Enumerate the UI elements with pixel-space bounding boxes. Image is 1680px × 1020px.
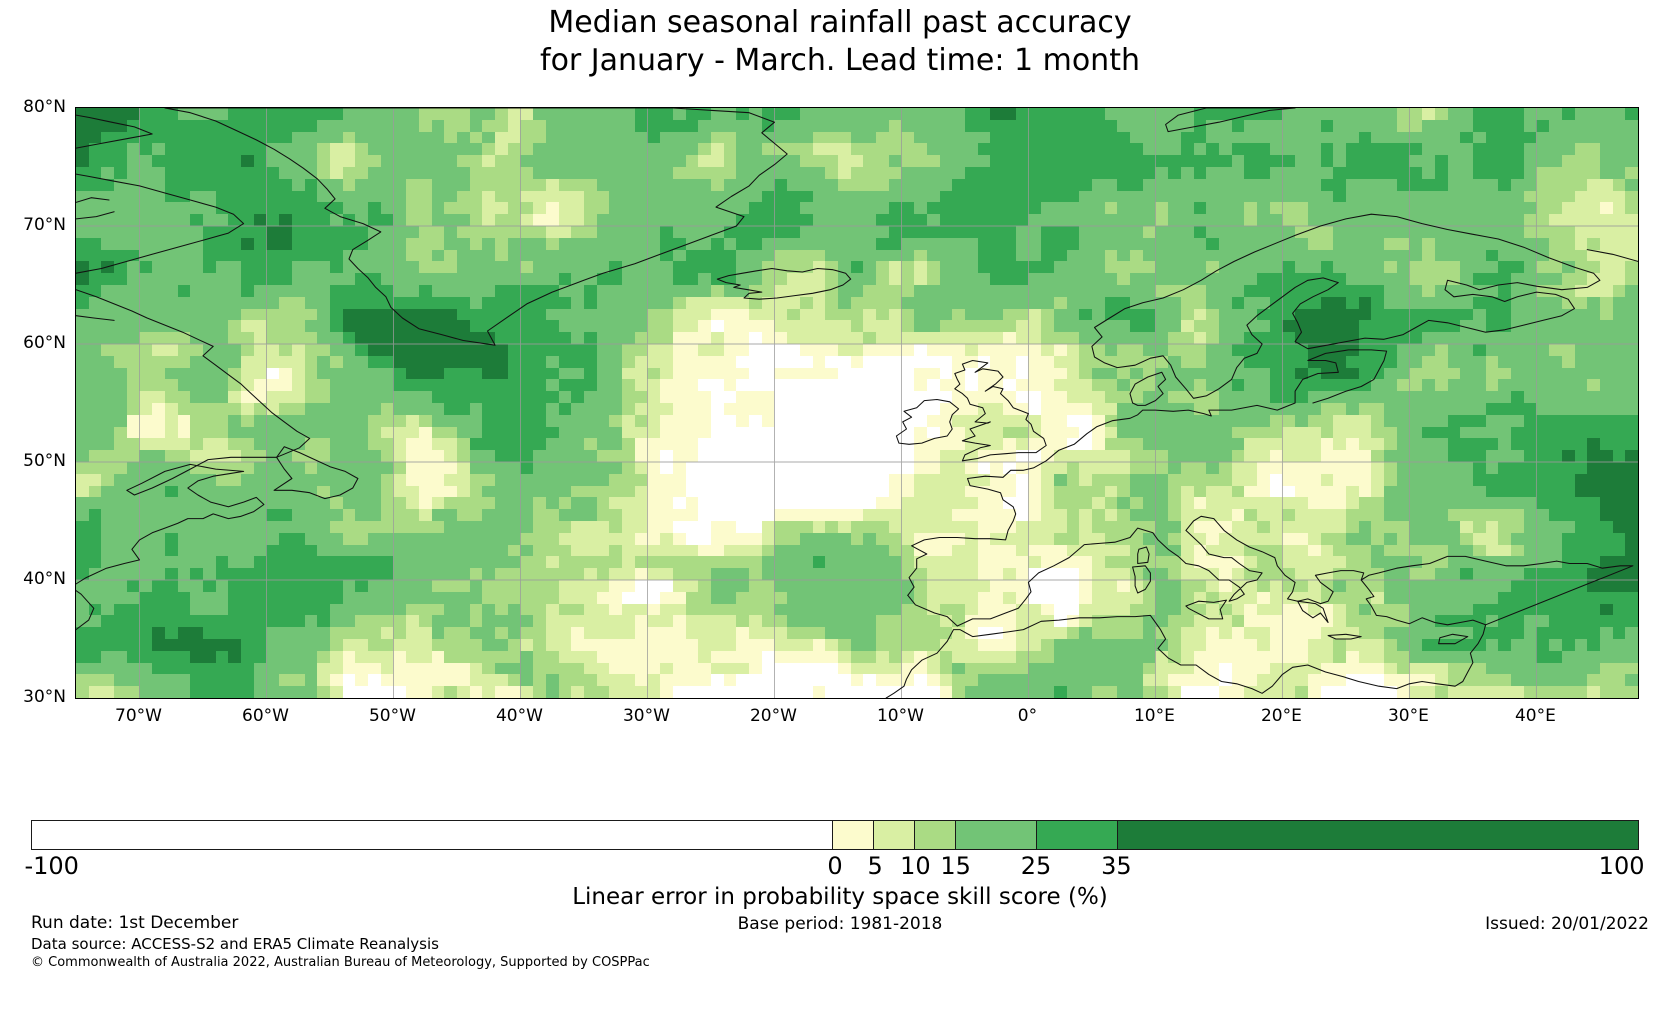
colorbar-tick-25: 25 — [1021, 852, 1052, 880]
figure-title: Median seasonal rainfall past accuracy f… — [0, 4, 1680, 80]
colorbar-tick-35: 35 — [1101, 852, 1132, 880]
lat-tick-30°N: 30°N — [23, 687, 66, 707]
base-period: Base period: 1981-2018 — [0, 914, 1680, 934]
lon-tick-40°W: 40°W — [496, 706, 543, 726]
issued-date: Issued: 20/01/2022 — [1485, 914, 1649, 934]
colorbar-band-4 — [955, 821, 1036, 849]
lat-tick-60°N: 60°N — [23, 333, 66, 353]
lon-tick-0°: 0° — [1018, 706, 1037, 726]
colorbar-band-2 — [873, 821, 914, 849]
title-line-2: for January - March. Lead time: 1 month — [0, 42, 1680, 80]
latitude-axis: 80°N70°N60°N50°N40°N30°N — [0, 107, 66, 697]
lon-tick-30°W: 30°W — [623, 706, 670, 726]
lon-tick-20°W: 20°W — [750, 706, 797, 726]
lon-tick-40°E: 40°E — [1515, 706, 1556, 726]
lat-tick-70°N: 70°N — [23, 215, 66, 235]
copyright-notice: © Commonwealth of Australia 2022, Austra… — [31, 954, 851, 972]
lat-tick-80°N: 80°N — [23, 97, 66, 117]
colorbar-tick-10: 10 — [900, 852, 931, 880]
title-line-1: Median seasonal rainfall past accuracy — [0, 4, 1680, 42]
lat-tick-40°N: 40°N — [23, 569, 66, 589]
colorbar[interactable] — [31, 820, 1639, 850]
lon-tick-10°E: 10°E — [1134, 706, 1175, 726]
lon-tick-60°W: 60°W — [242, 706, 289, 726]
colorbar-tick-15: 15 — [940, 852, 971, 880]
lon-tick-10°W: 10°W — [877, 706, 924, 726]
coastlines — [76, 108, 1638, 698]
colorbar-tick-5: 5 — [868, 852, 883, 880]
colorbar-tick-100: 100 — [1599, 852, 1645, 880]
data-source: Data source: ACCESS-S2 and ERA5 Climate … — [31, 934, 851, 954]
colorbar-band-3 — [914, 821, 955, 849]
lon-tick-50°W: 50°W — [369, 706, 416, 726]
colorbar-band-1 — [832, 821, 873, 849]
colorbar-tick--100: -100 — [24, 852, 78, 880]
lat-tick-50°N: 50°N — [23, 451, 66, 471]
lon-tick-30°E: 30°E — [1388, 706, 1429, 726]
map-panel[interactable] — [75, 107, 1639, 699]
colorbar-band-5 — [1036, 821, 1117, 849]
colorbar-band-0 — [32, 821, 832, 849]
colorbar-band-6 — [1117, 821, 1638, 849]
colorbar-tick-0: 0 — [827, 852, 842, 880]
lon-tick-20°E: 20°E — [1261, 706, 1302, 726]
lon-tick-70°W: 70°W — [115, 706, 162, 726]
colorbar-ticks: -1000510152535100 — [0, 852, 1680, 880]
longitude-axis: 70°W60°W50°W40°W30°W20°W10°W0°10°E20°E30… — [75, 706, 1637, 732]
colorbar-label: Linear error in probability space skill … — [0, 884, 1680, 910]
